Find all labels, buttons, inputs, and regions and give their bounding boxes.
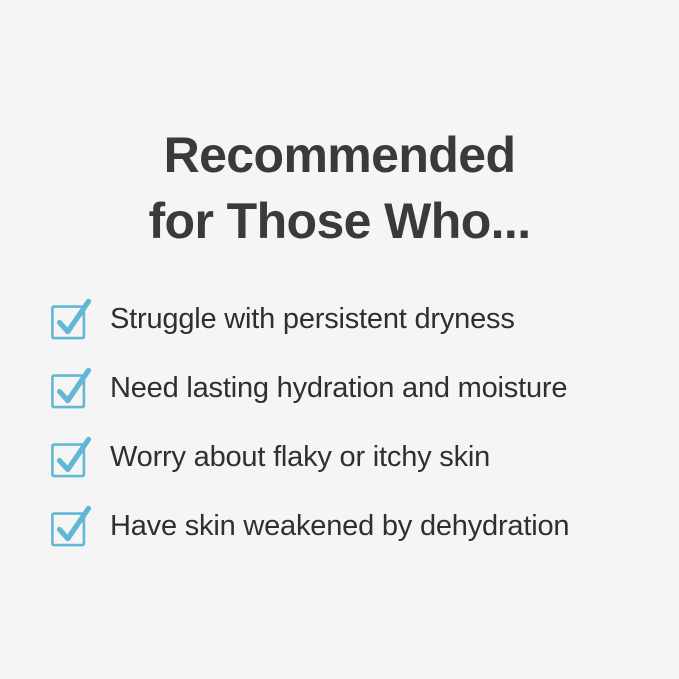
page-title: Recommended for Those Who... — [0, 122, 679, 254]
checkbox-checked-icon — [50, 298, 92, 340]
list-item-label: Have skin weakened by dehydration — [110, 508, 569, 544]
list-item-label: Need lasting hydration and moisture — [110, 370, 567, 406]
page-title-line-1: Recommended — [0, 122, 679, 188]
checkbox-checked-icon — [50, 505, 92, 547]
list-item: Worry about flaky or itchy skin — [50, 434, 650, 479]
list-item-label: Struggle with persistent dryness — [110, 301, 515, 337]
recommended-for-panel: Recommended for Those Who... Struggle wi… — [0, 0, 679, 679]
list-item: Need lasting hydration and moisture — [50, 365, 650, 410]
list-item: Struggle with persistent dryness — [50, 296, 650, 341]
page-title-line-2: for Those Who... — [0, 188, 679, 254]
list-item-label: Worry about flaky or itchy skin — [110, 439, 490, 475]
checkbox-checked-icon — [50, 436, 92, 478]
list-item: Have skin weakened by dehydration — [50, 503, 650, 548]
benefit-list: Struggle with persistent dryness Need la… — [50, 296, 650, 548]
checkbox-checked-icon — [50, 367, 92, 409]
